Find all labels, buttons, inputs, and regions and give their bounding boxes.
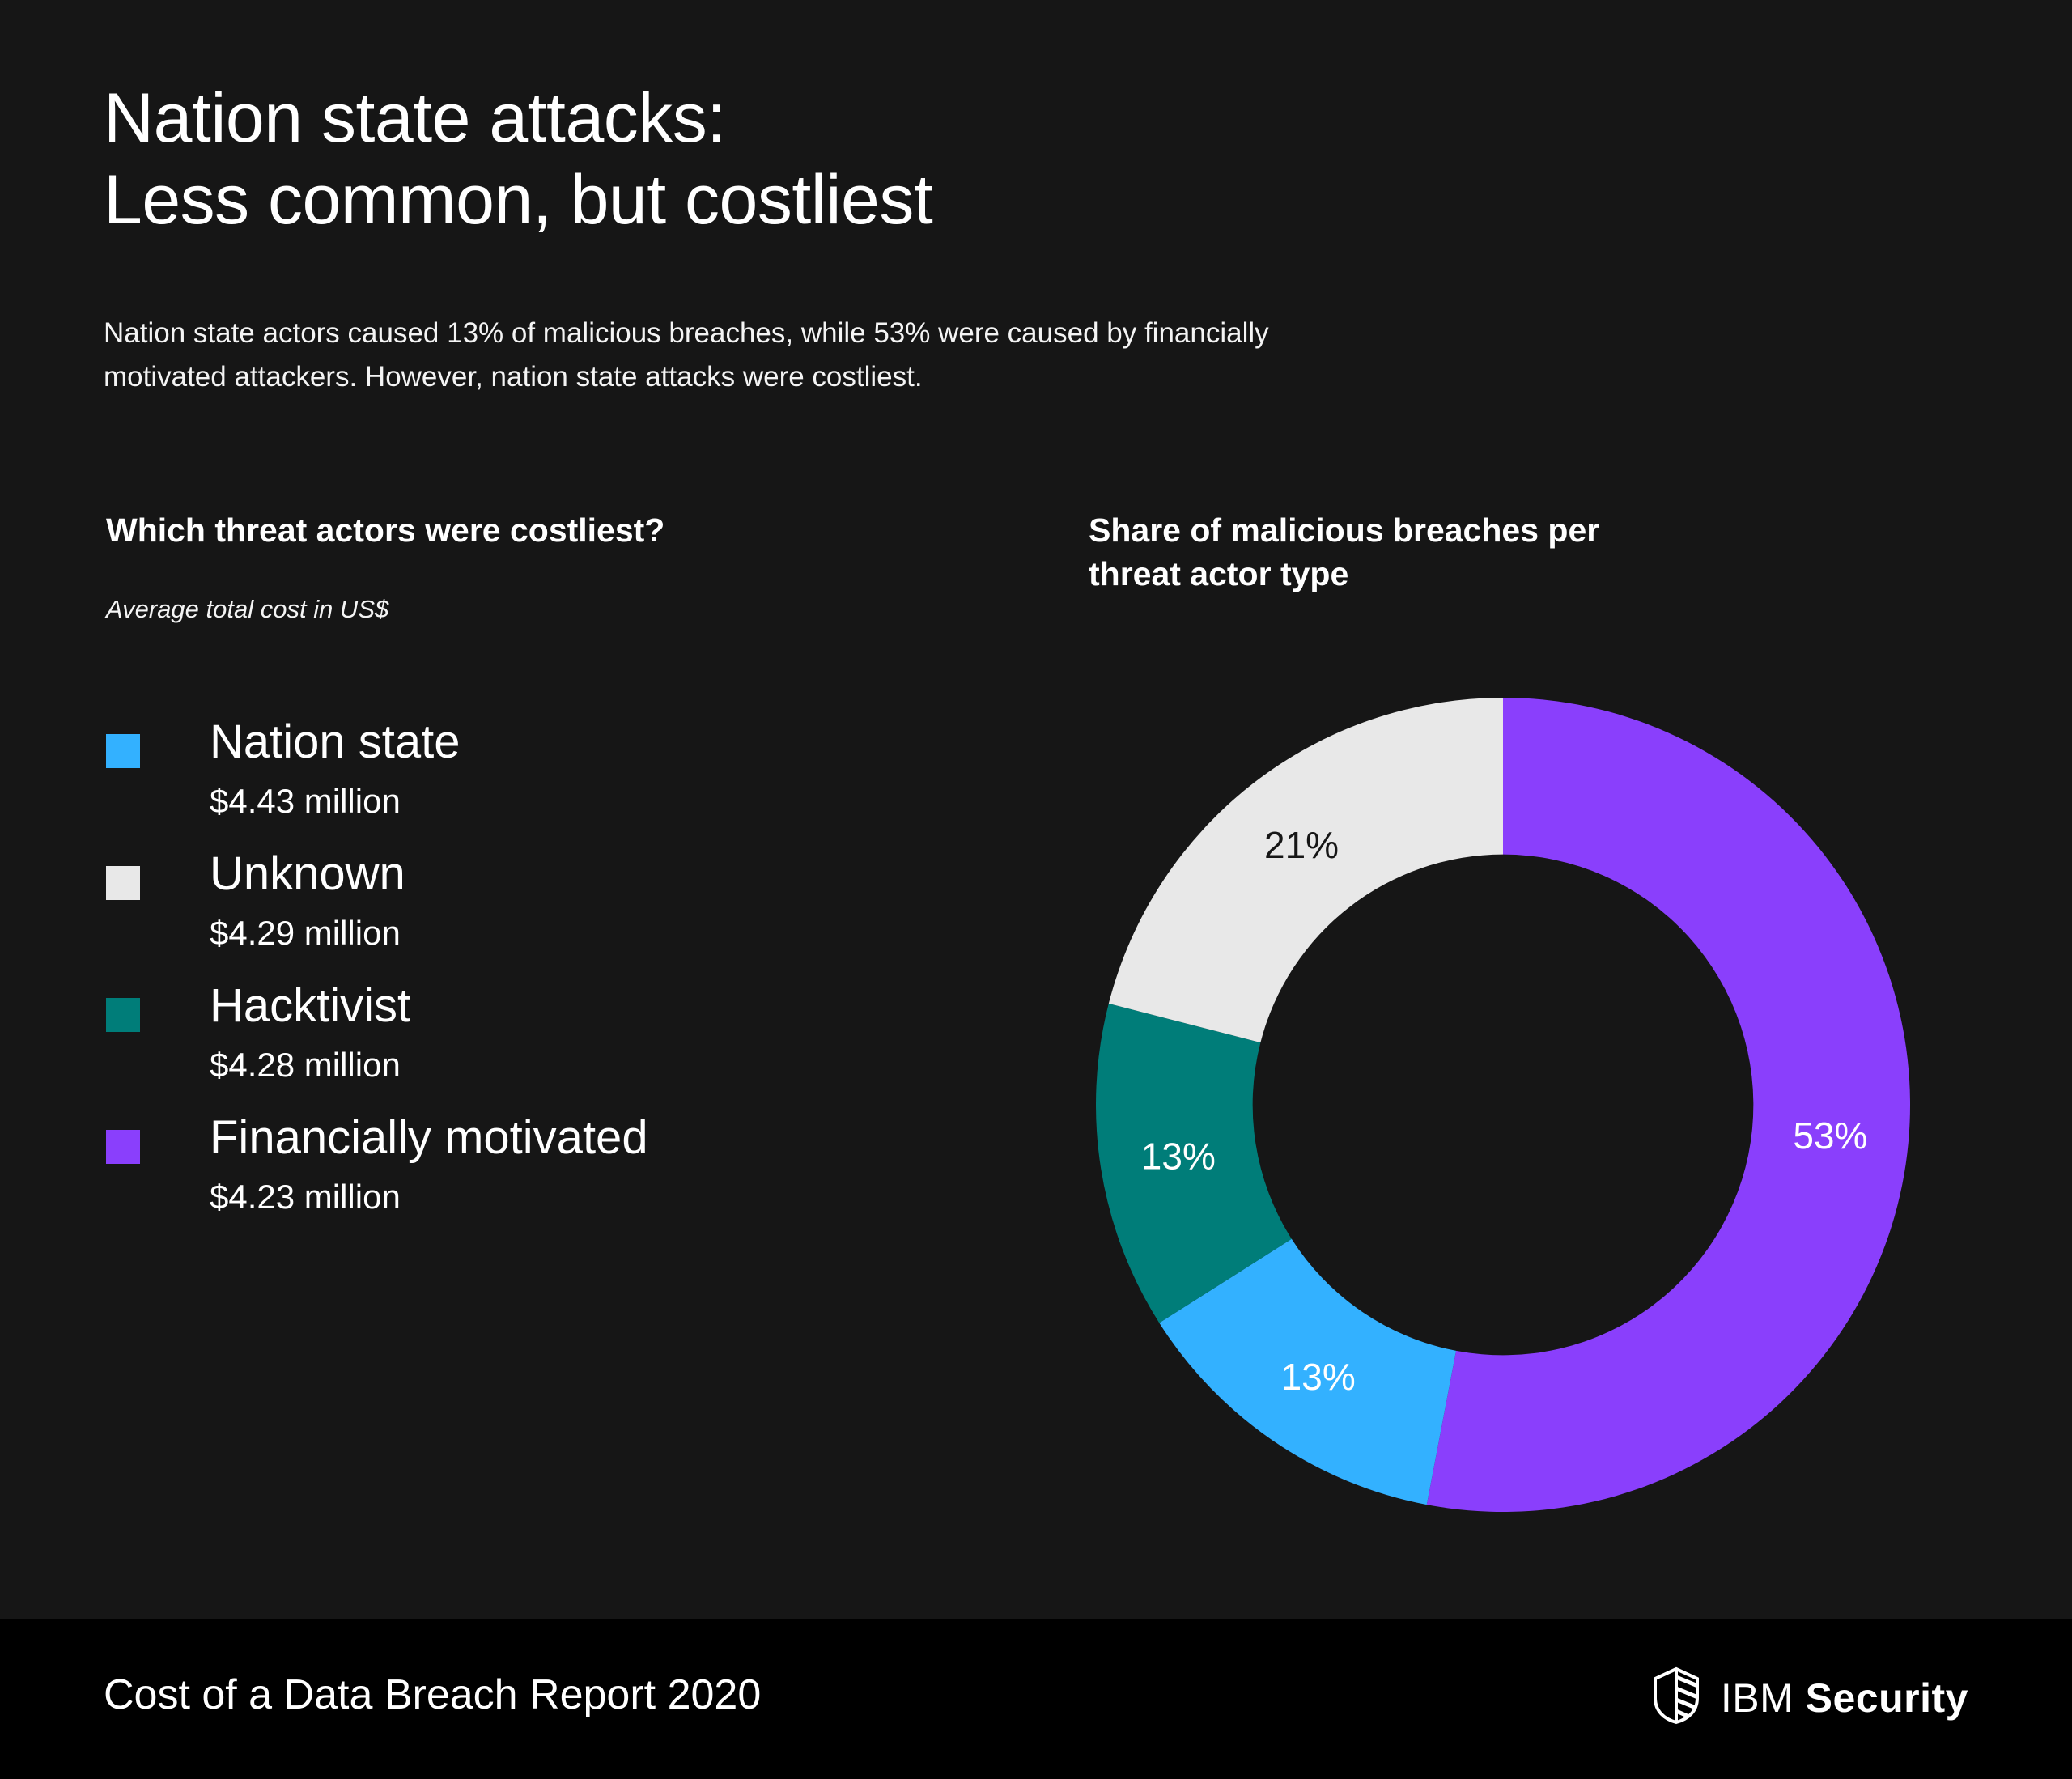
threat-actor-legend-list: Nation state $4.43 million Unknown $4.29…	[106, 716, 996, 1244]
donut-slice-unknown	[1109, 698, 1503, 1042]
list-item: Nation state $4.43 million	[106, 716, 996, 848]
left-panel-heading: Which threat actors were costliest?	[106, 508, 915, 552]
donut-slice-label: 13%	[1281, 1356, 1356, 1398]
report-title: Cost of a Data Breach Report 2020	[104, 1671, 761, 1719]
color-swatch-financially-motivated	[106, 1130, 140, 1164]
list-item-value: $4.29 million	[210, 915, 401, 952]
color-swatch-nation-state	[106, 734, 140, 768]
list-item-label: Financially motivated	[210, 1112, 648, 1164]
logo-product: Security	[1806, 1675, 1968, 1721]
shield-icon	[1651, 1666, 1701, 1730]
color-swatch-unknown	[106, 866, 140, 900]
donut-chart-svg: 53%13%13%21%	[1096, 698, 1910, 1512]
logo-brand: IBM	[1721, 1675, 1794, 1721]
list-item-value: $4.28 million	[210, 1047, 401, 1084]
donut-slice-label: 13%	[1141, 1136, 1216, 1178]
page-title-line-1: Nation state attacks:	[104, 78, 1480, 159]
shield-icon-svg	[1651, 1666, 1701, 1726]
donut-slices	[1096, 698, 1910, 1512]
ibm-security-logo: IBM Security	[1651, 1666, 1968, 1730]
right-panel-heading: Share of malicious breaches per threat a…	[1089, 508, 1817, 596]
list-item-value: $4.43 million	[210, 783, 401, 820]
footer-bar: Cost of a Data Breach Report 2020	[0, 1619, 2072, 1779]
donut-slice-label: 21%	[1264, 824, 1339, 866]
right-panel-heading-line-1: Share of malicious breaches per	[1089, 508, 1817, 552]
donut-slice-label: 53%	[1793, 1115, 1867, 1157]
color-swatch-hacktivist	[106, 998, 140, 1032]
subtitle-text: Nation state actors caused 13% of malici…	[104, 312, 1366, 400]
infographic-page: Nation state attacks: Less common, but c…	[0, 0, 2072, 1779]
page-title-line-2: Less common, but costliest	[104, 159, 1480, 241]
list-item-label: Hacktivist	[210, 980, 410, 1032]
donut-chart: 53%13%13%21%	[1096, 698, 1910, 1512]
header: Nation state attacks: Less common, but c…	[104, 78, 1480, 240]
list-item-label: Unknown	[210, 848, 405, 900]
list-item: Hacktivist $4.28 million	[106, 980, 996, 1112]
list-item: Unknown $4.29 million	[106, 848, 996, 980]
right-panel-heading-line-2: threat actor type	[1089, 552, 1817, 596]
list-item-value: $4.23 million	[210, 1178, 401, 1216]
list-item-label: Nation state	[210, 716, 461, 768]
list-item: Financially motivated $4.23 million	[106, 1112, 996, 1244]
left-panel-subheading: Average total cost in US$	[106, 595, 388, 624]
logo-wordmark: IBM Security	[1721, 1675, 1968, 1722]
